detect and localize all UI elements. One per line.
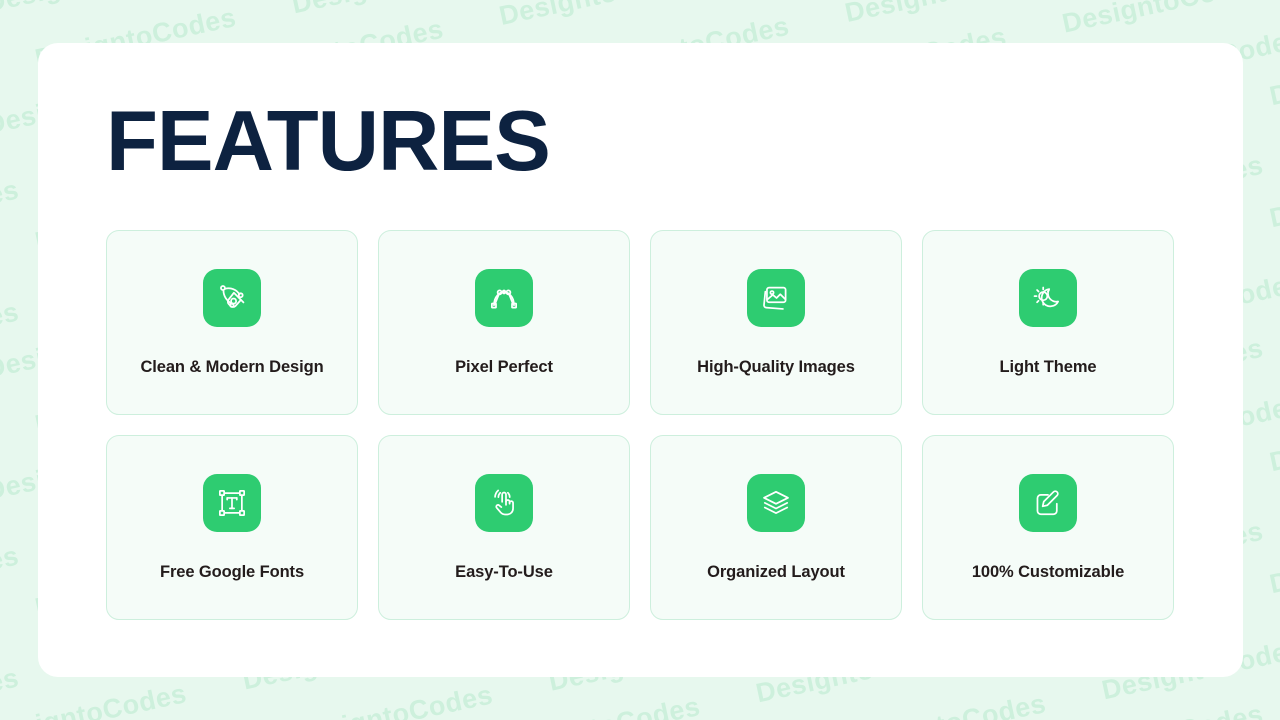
pen-tool-icon xyxy=(216,282,248,314)
tap-hand-icon xyxy=(488,487,520,519)
bezier-curve-icon xyxy=(488,282,520,314)
feature-card-free-google-fonts[interactable]: Free Google Fonts xyxy=(106,435,358,620)
sun-moon-icon xyxy=(1032,282,1064,314)
layers-icon xyxy=(760,487,792,519)
edit-square-icon xyxy=(1032,487,1064,519)
feature-label: Light Theme xyxy=(1000,358,1097,377)
feature-label: Pixel Perfect xyxy=(455,358,553,377)
feature-label: Clean & Modern Design xyxy=(140,358,323,377)
page-title: FEATURES xyxy=(106,99,1210,184)
watermark-row: DesigntoCodesDesigntoCodesDesigntoCodesD… xyxy=(0,0,1280,1)
icon-tile xyxy=(203,474,261,532)
content-panel: FEATURES xyxy=(38,43,1243,677)
icon-tile xyxy=(1019,269,1077,327)
feature-label: Free Google Fonts xyxy=(160,563,304,582)
icon-tile xyxy=(475,474,533,532)
icon-tile xyxy=(475,269,533,327)
icon-tile xyxy=(747,269,805,327)
images-stack-icon xyxy=(760,282,792,314)
feature-card-clean-modern-design[interactable]: Clean & Modern Design xyxy=(106,230,358,415)
icon-tile xyxy=(1019,474,1077,532)
icon-tile xyxy=(747,474,805,532)
feature-card-100-customizable[interactable]: 100% Customizable xyxy=(922,435,1174,620)
feature-label: Organized Layout xyxy=(707,563,845,582)
feature-label: 100% Customizable xyxy=(972,563,1124,582)
feature-card-pixel-perfect[interactable]: Pixel Perfect xyxy=(378,230,630,415)
panel-inner: FEATURES xyxy=(106,99,1210,677)
feature-label: Easy-To-Use xyxy=(455,563,553,582)
feature-card-organized-layout[interactable]: Organized Layout xyxy=(650,435,902,620)
feature-card-light-theme[interactable]: Light Theme xyxy=(922,230,1174,415)
text-box-icon xyxy=(216,487,248,519)
features-grid: Clean & Modern Design xyxy=(106,230,1210,620)
feature-label: High-Quality Images xyxy=(697,358,855,377)
feature-card-easy-to-use[interactable]: Easy-To-Use xyxy=(378,435,630,620)
feature-card-high-quality-images[interactable]: High-Quality Images xyxy=(650,230,902,415)
icon-tile xyxy=(203,269,261,327)
